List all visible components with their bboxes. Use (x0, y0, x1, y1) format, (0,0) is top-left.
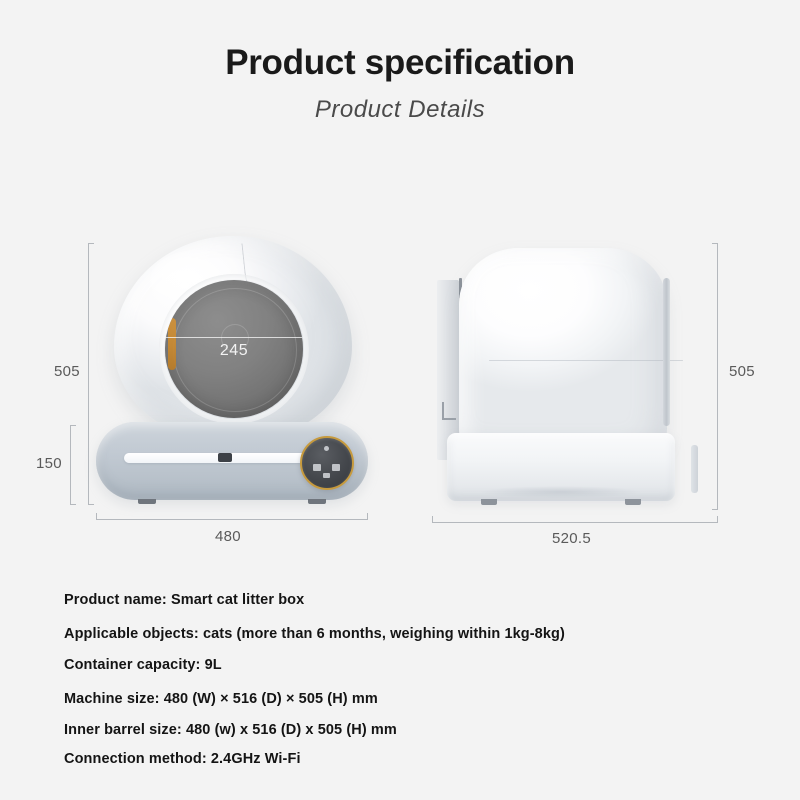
control-button-bottom-icon (323, 473, 330, 478)
front-width-label: 480 (215, 528, 241, 545)
base-sensor-icon (218, 453, 232, 462)
front-base-height-bracket (70, 425, 76, 505)
side-width-bracket (432, 516, 718, 523)
side-base-tab (691, 445, 698, 493)
front-base-pedestal (96, 422, 368, 500)
front-foot-right (308, 499, 326, 504)
side-height-label: 505 (729, 363, 755, 380)
product-dimension-diagram: 245 505 (0, 0, 800, 570)
front-foot-left (138, 499, 156, 504)
side-right-strip (663, 278, 670, 426)
side-base-shadow (481, 486, 641, 498)
front-width-bracket (96, 513, 368, 520)
control-panel-dial (300, 436, 354, 490)
control-button-left-icon (313, 464, 321, 471)
spec-inner-barrel-size: Inner barrel size: 480 (w) x 516 (D) x 5… (64, 722, 764, 738)
side-height-bracket (712, 243, 718, 510)
front-opening-cavity: 245 (165, 280, 303, 418)
side-body-shell (459, 248, 667, 460)
spec-product-name: Product name: Smart cat litter box (64, 592, 764, 608)
front-base-height-label: 150 (36, 455, 62, 472)
side-back-notch-icon (442, 402, 456, 420)
front-height-bracket (88, 243, 94, 505)
side-body-seam-line (489, 360, 683, 361)
side-view-illustration (437, 240, 702, 508)
side-foot-right (625, 499, 641, 505)
opening-diameter-label: 245 (165, 342, 303, 360)
power-icon (324, 446, 329, 451)
side-width-label: 520.5 (552, 530, 591, 547)
control-button-right-icon (332, 464, 340, 471)
specification-list: Product name: Smart cat litter box Appli… (64, 592, 764, 767)
side-foot-left (481, 499, 497, 505)
spec-machine-size: Machine size: 480 (W) × 516 (D) × 505 (H… (64, 691, 764, 707)
spec-connection-method: Connection method: 2.4GHz Wi-Fi (64, 751, 764, 767)
spec-applicable-objects: Applicable objects: cats (more than 6 mo… (64, 626, 764, 642)
front-height-label: 505 (54, 363, 80, 380)
opening-diameter-line (165, 337, 303, 338)
front-view-illustration: 245 (96, 236, 368, 508)
spec-container-capacity: Container capacity: 9L (64, 657, 764, 673)
